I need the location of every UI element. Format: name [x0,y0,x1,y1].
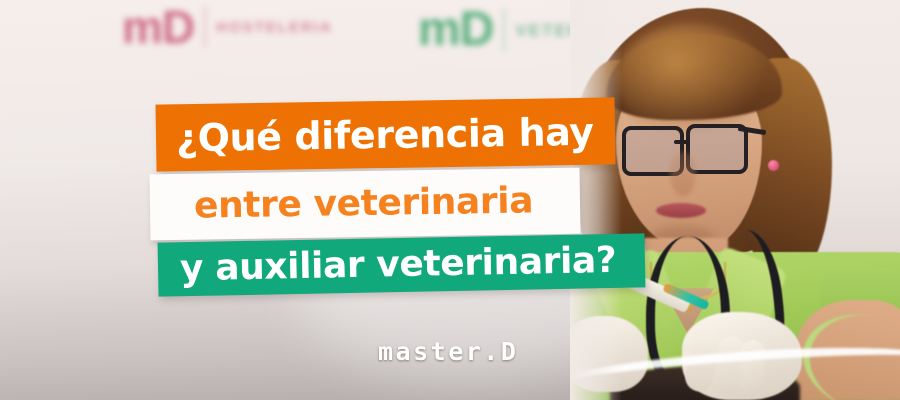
veterinarian-photo [570,0,900,400]
wall-logo-hosteleria-subtitle: HOSTELERIA [216,20,333,35]
wall-logo-veterinaria-divider [503,8,505,52]
lips [656,203,706,218]
masterd-logo[interactable]: master.D [378,337,518,366]
headline-line-1-text: ¿Qué diferencia hay [176,112,594,157]
eyeglasses-bridge [674,140,690,144]
wall-logo-hosteleria: mD HOSTELERIA [122,4,333,50]
hair-highlight [616,24,766,134]
earring [768,160,779,171]
headline-line-3-text: y auxiliar veterinaria? [180,243,617,287]
nose [670,152,696,196]
promo-banner: mD HOSTELERIA mD VETERINARIA [0,0,900,400]
headline-banner-line-2: entre veterinaria [150,168,581,241]
headline-banner-line-3: y auxiliar veterinaria? [158,233,646,296]
headline-banner-line-1: ¿Qué diferencia hay [156,97,616,171]
wall-logo-hosteleria-divider [204,6,206,48]
headline-line-2-text: entre veterinaria [194,183,534,224]
wall-logo-hosteleria-mark: mD [122,4,194,50]
wall-logo-veterinaria-mark: mD [418,6,493,54]
